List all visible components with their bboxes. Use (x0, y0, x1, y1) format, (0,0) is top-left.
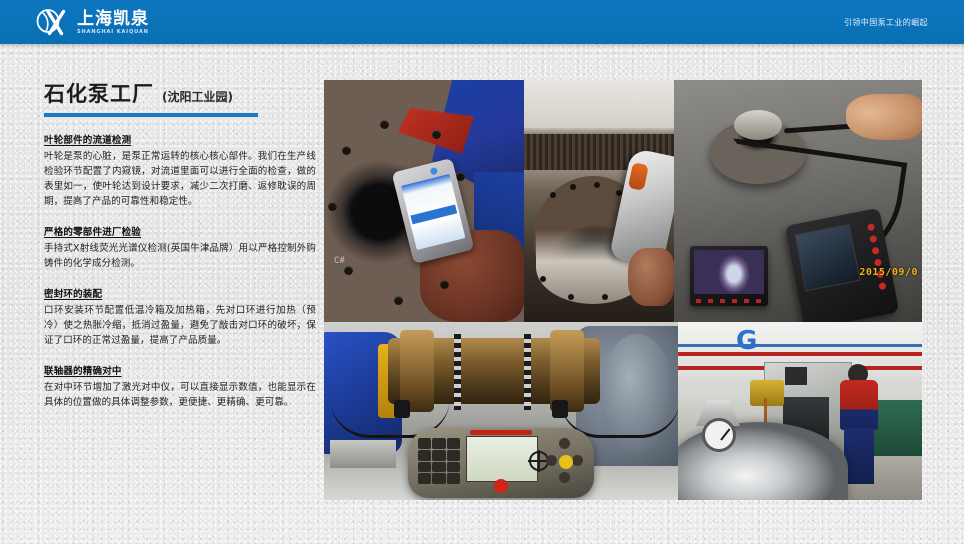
title-underline-rule (44, 113, 258, 117)
section-body: 在对中环节增加了激光对中仪，可以直接显示数值，也能显示在具体的位置做的具体调整参… (44, 380, 316, 410)
pressure-gauge (702, 418, 736, 452)
brand-name-cn: 上海凯泉 (77, 11, 149, 28)
tool-display-screen (466, 436, 538, 482)
slide-root: 上海凯泉 SHANGHAI KAIQUAN 引领中国泵工业的崛起 石化泵工厂 (… (0, 0, 964, 544)
xrf-gun-accent (628, 162, 649, 191)
section-body: 手持式X射线荧光光谱仪检测(英国牛津品牌）用以严格控制外购铸件的化学成分检测。 (44, 241, 316, 271)
endoscope-inset-screen (694, 250, 764, 294)
photo-heating-oven-workshop: G (678, 322, 922, 500)
section-heading: 叶轮部件的流道检测 (44, 132, 316, 146)
ceiling-pipe (678, 344, 922, 347)
measuring-chain-left (454, 334, 461, 410)
endoscope-monitor (785, 208, 899, 322)
photo-impeller-flange-reader: C# (324, 80, 524, 322)
impeller-hub (734, 110, 782, 140)
endoscope-inset-display (690, 246, 768, 306)
content-column: 石化泵工厂 (沈阳工业园) 叶轮部件的流道检测 叶轮是泵的心脏，是泵正常运转的核… (44, 78, 316, 410)
page-header: 上海凯泉 SHANGHAI KAIQUAN 引领中国泵工业的崛起 (0, 0, 964, 44)
photo-endoscope-inspection: 2015/09/0 (674, 80, 922, 322)
section-heading: 严格的零部件进厂检验 (44, 224, 316, 238)
background-rack-top (524, 128, 674, 134)
page-title-sub: (沈阳工业园) (162, 88, 233, 105)
tool-ok-button (559, 455, 573, 469)
device-led-icon (430, 167, 438, 175)
ceiling-beam (678, 352, 922, 356)
motor-baseplate (330, 440, 396, 468)
section-body: 口环安装环节配置低温冷箱及加热箱，先对口环进行加热（预冷）使之热胀冷缩，抵消过盈… (44, 303, 316, 348)
section-coupling-alignment: 联轴器的精确对中 在对中环节增加了激光对中仪，可以直接显示数值，也能显示在具体的… (44, 363, 316, 410)
section-heading: 联轴器的精确对中 (44, 363, 316, 377)
page-title-main: 石化泵工厂 (44, 78, 154, 108)
header-shadow (0, 44, 964, 48)
worker-legs (844, 428, 874, 484)
section-heading: 密封环的装配 (44, 286, 316, 300)
photo-laser-shaft-alignment (324, 322, 678, 500)
photo-collage: C# (324, 80, 922, 500)
section-seal-ring-assembly: 密封环的装配 口环安装环节配置低温冷箱及加热箱，先对口环进行加热（预冷）使之热胀… (44, 286, 316, 348)
brand-logo[interactable]: 上海凯泉 SHANGHAI KAIQUAN (36, 8, 149, 38)
section-incoming-part-inspection: 严格的零部件进厂检验 手持式X射线荧光光谱仪检测(英国牛津品牌）用以严格控制外购… (44, 224, 316, 271)
operator-hand (628, 248, 674, 306)
measuring-chain-right (524, 334, 531, 410)
tool-power-button (494, 479, 508, 493)
g-sign-label: G (736, 326, 757, 356)
tool-brand-bar (470, 430, 532, 435)
header-slogan: 引领中国泵工业的崛起 (844, 0, 928, 44)
photo-casing-xrf-gun (524, 80, 674, 322)
operator-arm (846, 94, 922, 140)
page-title: 石化泵工厂 (沈阳工业园) (44, 78, 316, 108)
photo-caption: C# (334, 256, 360, 266)
brand-name-en: SHANGHAI KAIQUAN (77, 30, 149, 35)
tool-keypad (418, 438, 460, 484)
oven-control-panel (785, 367, 807, 385)
section-impeller-inspection: 叶轮部件的流道检测 叶轮是泵的心脏，是泵正常运转的核心核心部件。我们在生产线检验… (44, 132, 316, 209)
endoscope-monitor-screen (795, 224, 861, 292)
laser-alignment-tool (408, 428, 594, 498)
brass-valve (750, 380, 784, 406)
kaiquan-logo-mark (36, 9, 70, 37)
section-body: 叶轮是泵的心脏，是泵正常运转的核心核心部件。我们在生产线检验环节配置了内窥镜，对… (44, 149, 316, 209)
worker-uniform (840, 380, 878, 430)
tool-nav-buttons (546, 438, 584, 484)
